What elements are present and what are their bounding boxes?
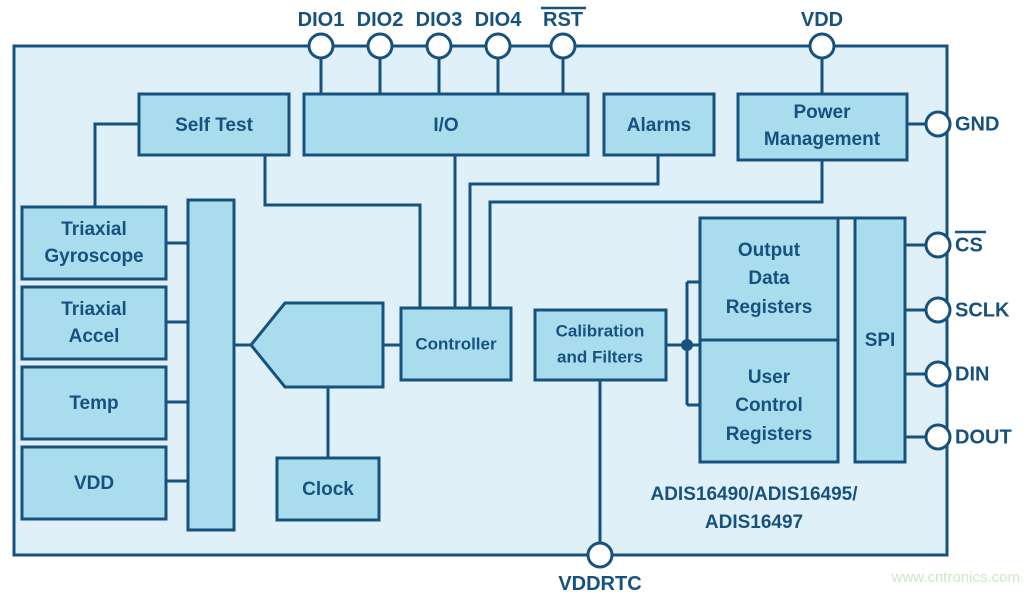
- block-controller-label: Controller: [415, 334, 497, 353]
- block-io[interactable]: I/O: [304, 94, 588, 155]
- watermark-label: www.cntronics.com: [891, 569, 1020, 586]
- block-triaxial-gyroscope-label-line2: Gyroscope: [44, 246, 143, 267]
- block-alarms[interactable]: Alarms: [604, 94, 714, 155]
- pin-cs-label: CS: [955, 234, 983, 256]
- part-number-line2: ADIS16497: [705, 512, 803, 533]
- pin-gnd-label: GND: [955, 113, 999, 135]
- block-output-data-registers-label-line1: Output: [738, 240, 801, 261]
- pin-vddrtc-label: VDDRTC: [558, 573, 641, 595]
- pin-dio1-label: DIO1: [298, 9, 345, 31]
- block-temp-label: Temp: [69, 393, 118, 414]
- block-diagram-root: Self Test I/O Alarms Power Management Tr…: [0, 0, 1031, 598]
- block-temp[interactable]: Temp: [22, 367, 166, 439]
- block-power-management-label-line2: Management: [764, 129, 881, 150]
- block-calibration-label-line1: Calibration: [556, 321, 645, 340]
- pin-dout-label: DOUT: [955, 426, 1012, 448]
- block-triaxial-accel-label-line1: Triaxial: [61, 299, 127, 320]
- block-clock-label: Clock: [302, 479, 354, 500]
- block-calibration-and-filters[interactable]: Calibration and Filters: [535, 310, 666, 380]
- pin-dio4-label: DIO4: [475, 9, 523, 31]
- block-user-control-registers[interactable]: User Control Registers: [700, 340, 838, 462]
- block-user-control-registers-label-line1: User: [748, 367, 791, 388]
- block-power-management-label-line1: Power: [793, 102, 851, 123]
- block-self-test[interactable]: Self Test: [139, 94, 289, 155]
- block-triaxial-gyroscope[interactable]: Triaxial Gyroscope: [22, 207, 166, 279]
- block-output-data-registers[interactable]: Output Data Registers: [700, 218, 838, 340]
- block-vdd-sensor-label: VDD: [74, 473, 114, 494]
- block-sensor-bus: [188, 200, 234, 530]
- block-io-label: I/O: [433, 115, 458, 136]
- block-spi-label: SPI: [865, 330, 896, 351]
- block-alarms-label: Alarms: [627, 115, 691, 136]
- block-controller[interactable]: Controller: [401, 308, 511, 380]
- adis-block-diagram: Self Test I/O Alarms Power Management Tr…: [0, 0, 1031, 598]
- block-user-control-registers-label-line3: Registers: [726, 424, 813, 445]
- block-vdd-sensor[interactable]: VDD: [22, 447, 166, 519]
- block-spi[interactable]: SPI: [855, 218, 905, 462]
- part-number-line1: ADIS16490/ADIS16495/: [650, 484, 858, 505]
- pin-rst-label: RST: [543, 9, 583, 31]
- block-user-control-registers-label-line2: Control: [735, 395, 803, 416]
- pin-sclk[interactable]: SCLK: [926, 298, 1010, 322]
- block-triaxial-accel[interactable]: Triaxial Accel: [22, 287, 166, 359]
- pin-gnd[interactable]: GND: [926, 112, 999, 136]
- block-clock[interactable]: Clock: [277, 458, 379, 520]
- pin-cs[interactable]: CS: [926, 232, 986, 257]
- block-output-data-registers-label-line3: Registers: [726, 297, 813, 318]
- block-output-data-registers-label-line2: Data: [748, 268, 790, 289]
- pin-din[interactable]: DIN: [926, 362, 989, 386]
- pin-dout[interactable]: DOUT: [926, 425, 1012, 449]
- block-calibration-label-line2: and Filters: [557, 347, 643, 366]
- block-triaxial-accel-label-line2: Accel: [69, 326, 120, 347]
- pin-dio3-label: DIO3: [416, 9, 463, 31]
- pin-din-label: DIN: [955, 363, 989, 385]
- pin-vdd-top-label: VDD: [801, 9, 843, 31]
- block-triaxial-gyroscope-label-line1: Triaxial: [61, 219, 127, 240]
- pin-sclk-label: SCLK: [955, 299, 1010, 321]
- block-power-management[interactable]: Power Management: [738, 94, 907, 160]
- pin-dio2-label: DIO2: [357, 9, 404, 31]
- block-self-test-label: Self Test: [175, 115, 253, 136]
